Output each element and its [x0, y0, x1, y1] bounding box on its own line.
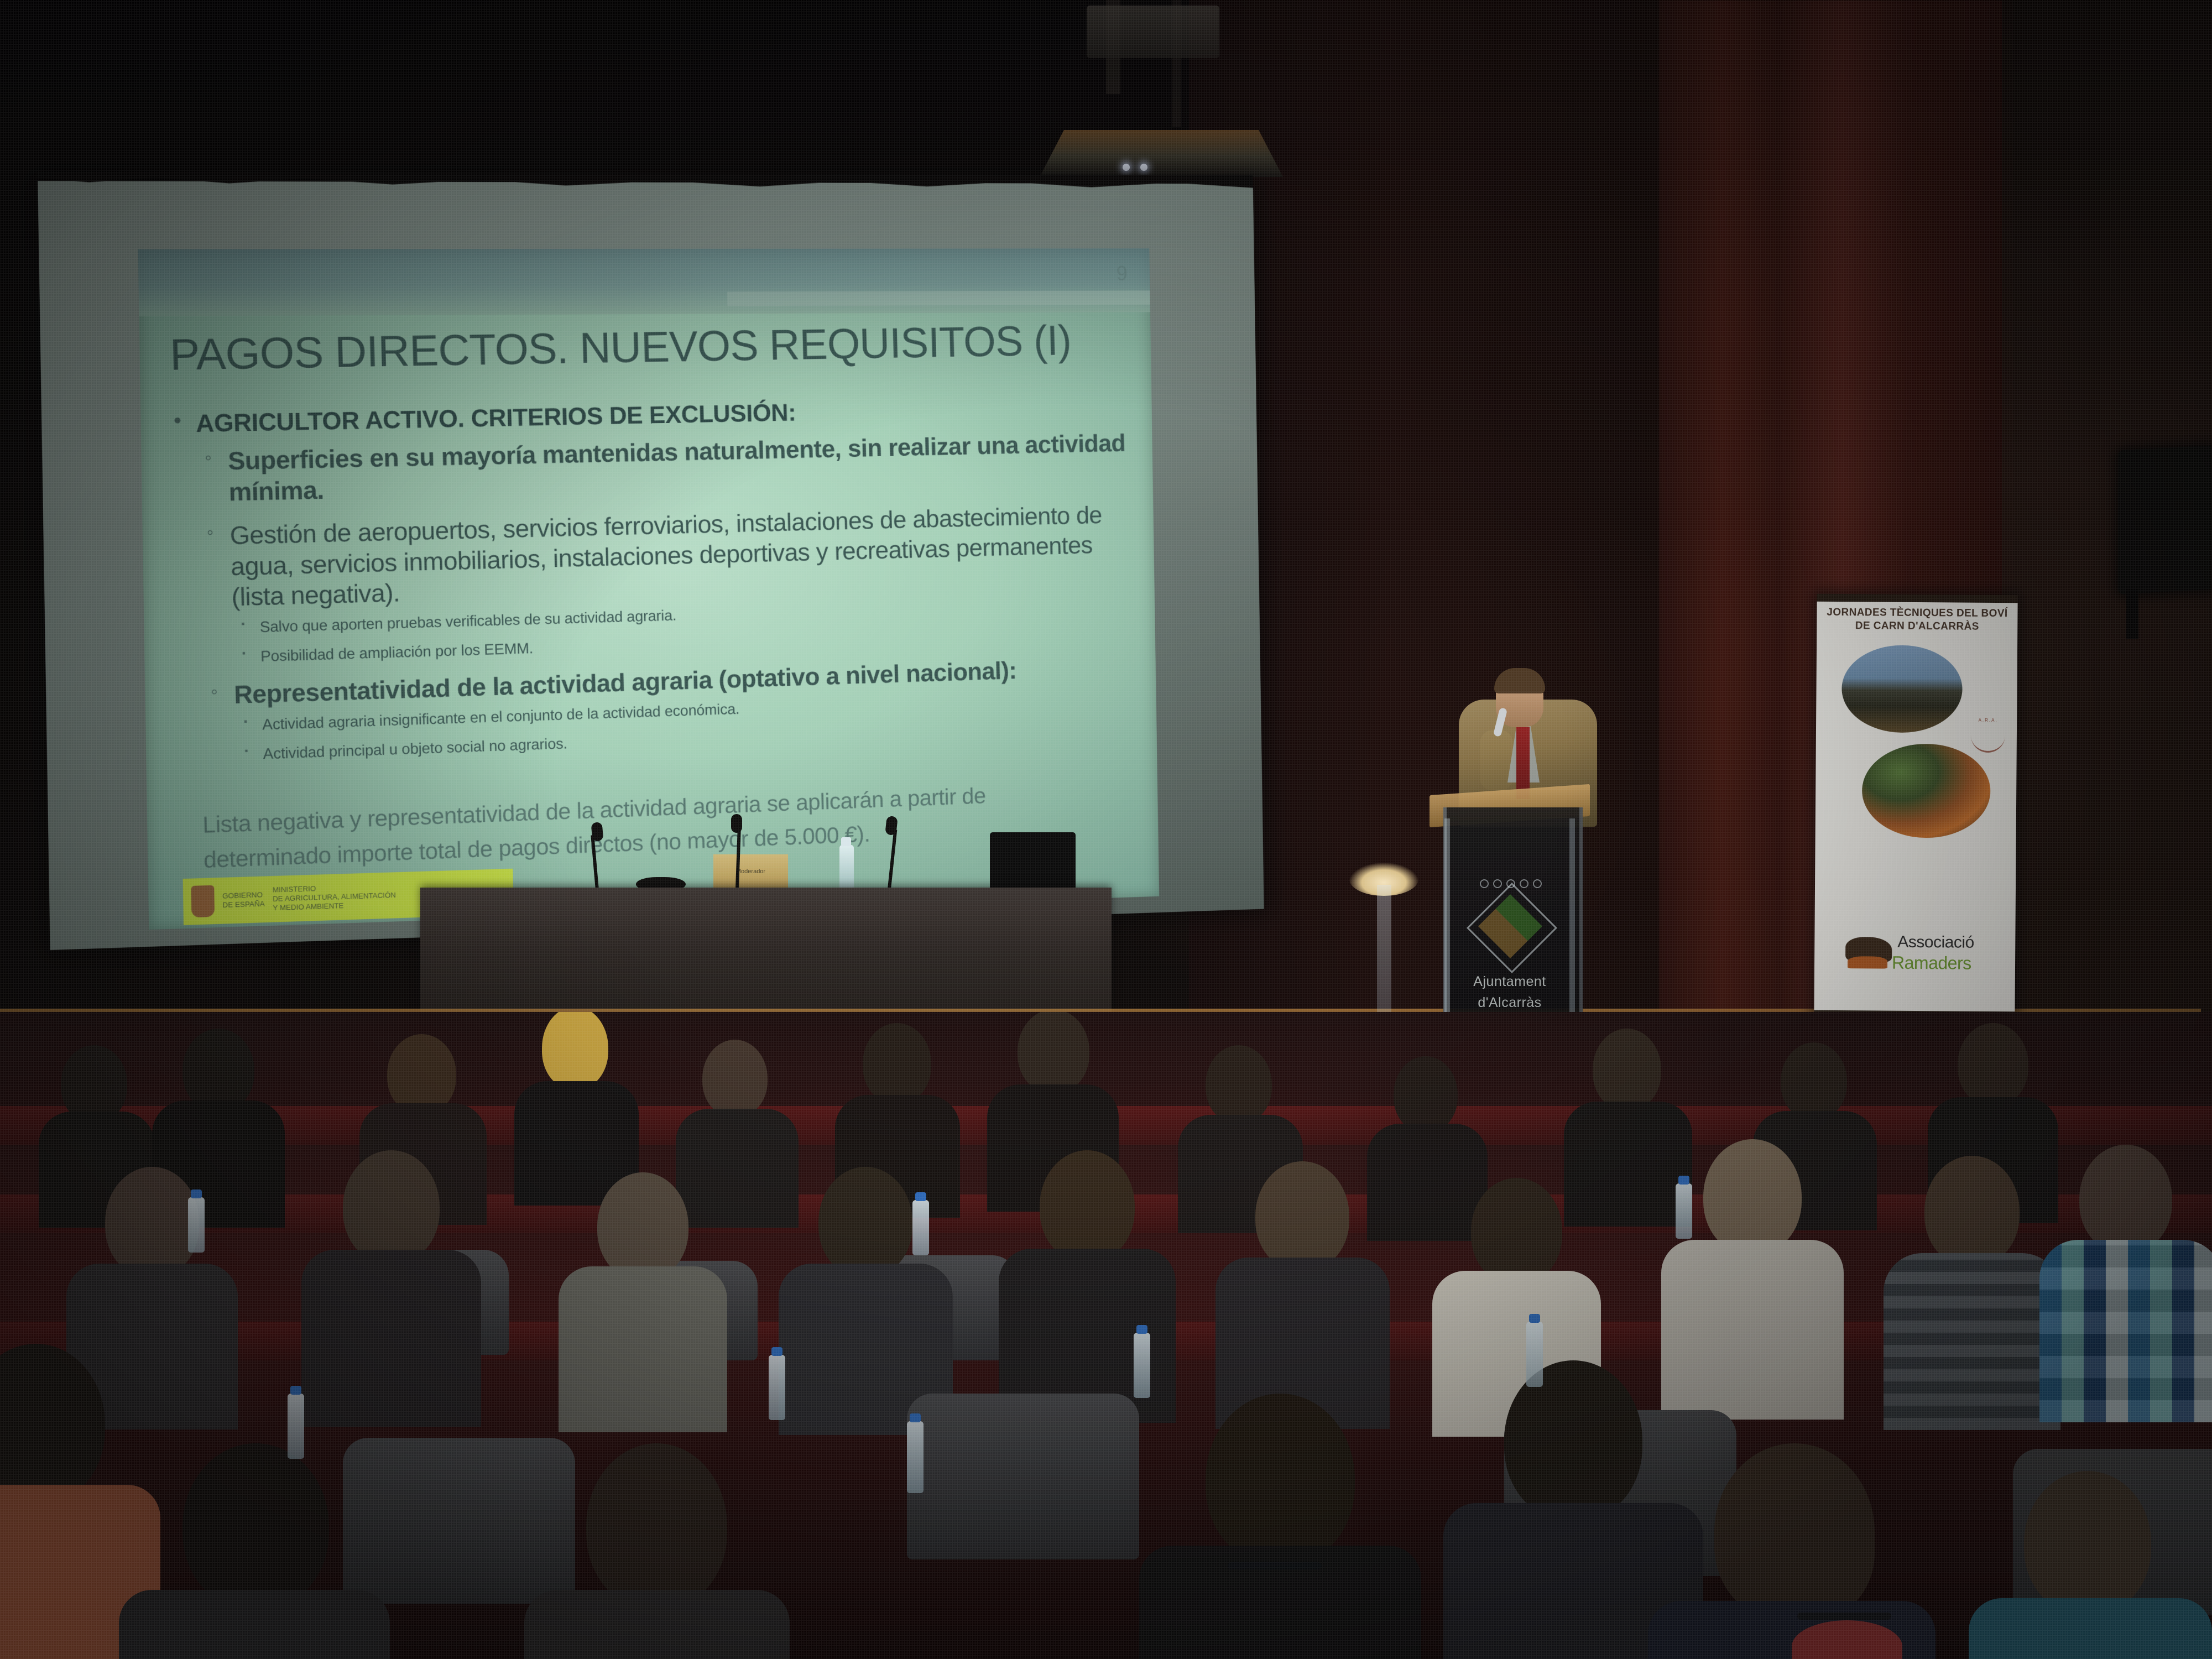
water-bottle-icon — [1526, 1322, 1543, 1387]
podium-label-line2: d'Alcarràs — [1443, 993, 1576, 1014]
water-bottle-icon — [907, 1421, 924, 1493]
ceiling-projector-icon — [1087, 6, 1219, 58]
projector-led-icon-2 — [1140, 164, 1147, 171]
bullet-level3-text: Salvo que aporten pruebas verificables d… — [259, 607, 676, 636]
audience-head — [1394, 1056, 1458, 1133]
microphone-head-icon — [591, 822, 604, 842]
audience-torso — [559, 1266, 727, 1432]
laptop-icon — [990, 832, 1076, 890]
table-nameplate: Moderador — [713, 854, 788, 889]
audience-head — [182, 1443, 329, 1609]
banner-photo-landscape — [1841, 645, 1963, 733]
bullet-level2: Gestión de aeropuertos, servicios ferrov… — [199, 499, 1134, 668]
conference-photo-scene: 9 PAGOS DIRECTOS. NUEVOS REQUISITOS (I) … — [0, 0, 2212, 1659]
slide-header-band — [138, 248, 1150, 316]
audience-head — [1471, 1178, 1562, 1284]
presentation-slide: 9 PAGOS DIRECTOS. NUEVOS REQUISITOS (I) … — [138, 248, 1159, 930]
ministry-logo-text: MINISTERIO DE AGRICULTURA, ALIMENTACIÓN … — [273, 881, 397, 913]
podium-label-line1: Ajuntament — [1443, 972, 1576, 993]
bullet-level2: Superficies en su mayoría mantenidas nat… — [196, 428, 1130, 508]
water-bottle-icon — [769, 1355, 785, 1420]
audience-head — [105, 1167, 199, 1277]
audience-torso — [301, 1250, 481, 1427]
audience-head-bald — [1703, 1139, 1802, 1254]
water-bottle-icon — [1134, 1333, 1150, 1398]
bullet-level1: AGRICULTOR ACTIVO. CRITERIOS DE EXCLUSIÓ… — [166, 393, 1136, 766]
audience-head — [1255, 1161, 1349, 1271]
audience-head — [387, 1034, 456, 1114]
wall-speaker-bracket — [2126, 589, 2138, 639]
rollup-banner: JORNADES TÈCNIQUES DEL BOVÍ DE CARN D'AL… — [1814, 594, 2017, 1024]
slide-header-accent — [727, 290, 1150, 306]
audience-head — [702, 1040, 768, 1117]
audience-torso — [524, 1590, 790, 1659]
audience-head — [2024, 1471, 2151, 1615]
bottle-cap-icon — [841, 837, 851, 846]
bullet-level2-text: Superficies en su mayoría mantenidas nat… — [228, 429, 1126, 507]
lanyard — [1228, 1562, 1322, 1569]
logo-dot-icon — [1533, 879, 1542, 888]
projector-housing-plate — [1040, 130, 1283, 177]
audience-torso — [119, 1590, 390, 1659]
audience-torso — [1564, 1102, 1692, 1227]
cow-logo-icon-2 — [1848, 956, 1887, 969]
slide-bullet-list: AGRICULTOR ACTIVO. CRITERIOS DE EXCLUSIÓ… — [166, 393, 1136, 779]
audience-torso-striped — [1884, 1253, 2060, 1430]
logo-dot-icon — [1480, 879, 1489, 888]
water-bottle-icon — [288, 1394, 304, 1459]
bullet-level3-text: Posibilidad de ampliación por los EEMM. — [260, 640, 534, 665]
audience-head — [863, 1023, 931, 1104]
audience-head — [2079, 1145, 2172, 1253]
banner-brand-line2: Ramaders — [1892, 953, 1971, 974]
audience-head — [182, 1029, 254, 1112]
audience-torso-teal — [1969, 1598, 2212, 1659]
logo-dot-icon — [1520, 879, 1528, 888]
water-bottle-icon — [912, 1200, 929, 1255]
slide-footnote: Lista negativa y representatividad de la… — [202, 775, 1104, 878]
banner-seal-icon — [1971, 723, 2005, 753]
bullet-level2: Representatividad de la actividad agrari… — [202, 652, 1136, 766]
audience-head — [1924, 1156, 2020, 1266]
audience-head — [597, 1172, 688, 1280]
bullet-level2-text: Gestión de aeropuertos, servicios ferrov… — [229, 500, 1102, 612]
banner-title-line1: JORNADES TÈCNIQUES DEL BOVÍ — [1822, 606, 2012, 621]
slide-number: 9 — [1116, 263, 1128, 286]
projector-led-icon — [1123, 164, 1130, 171]
water-bottle-icon — [839, 845, 854, 890]
water-bottle-icon — [188, 1197, 205, 1253]
audience-torso — [1367, 1124, 1488, 1241]
audience-head — [1781, 1042, 1847, 1120]
theatre-seat — [343, 1438, 575, 1604]
gov-line-2: DE ESPAÑA — [222, 899, 265, 910]
audience-head — [1593, 1029, 1661, 1110]
audience-head — [1206, 1394, 1355, 1565]
audience-torso — [676, 1109, 799, 1228]
banner-title-line2: DE CARN D'ALCARRÀS — [1822, 619, 2012, 634]
lanyard — [1797, 1613, 1891, 1620]
bullet-level3-text: Actividad principal u objeto social no a… — [263, 735, 567, 762]
banner-seal-text: A.R.A. — [1971, 718, 2005, 723]
audience-torso-plaid — [2039, 1240, 2212, 1422]
slide-title: PAGOS DIRECTOS. NUEVOS REQUISITOS (I) — [169, 315, 1110, 380]
audience-head — [1040, 1150, 1135, 1262]
podium-label: Ajuntament d'Alcarràs — [1443, 972, 1576, 1013]
microphone-head-icon — [731, 814, 742, 833]
projection-screen: 9 PAGOS DIRECTOS. NUEVOS REQUISITOS (I) … — [38, 181, 1264, 950]
banner-brand-line1: Associació — [1897, 933, 1974, 952]
audience-head — [586, 1443, 727, 1609]
banner-title: JORNADES TÈCNIQUES DEL BOVÍ DE CARN D'AL… — [1822, 606, 2012, 634]
wall-speaker-icon — [2118, 445, 2212, 594]
theatre-seat — [907, 1394, 1139, 1559]
audience-head — [818, 1167, 912, 1277]
spain-crest-icon — [191, 885, 215, 918]
water-bottle-icon — [1676, 1183, 1692, 1239]
banner-top-rail — [1817, 594, 2018, 603]
audience-head — [1206, 1045, 1272, 1124]
audience-head — [1958, 1023, 2028, 1106]
audience-torso-light — [1661, 1240, 1844, 1420]
audience-area — [0, 1012, 2212, 1659]
audience-head — [343, 1150, 440, 1264]
logo-dot-icon — [1493, 879, 1502, 888]
audience-head-blonde — [542, 1012, 608, 1089]
banner-photo-cattle — [1862, 743, 1991, 838]
government-logo-text: GOBIERNO DE ESPAÑA — [222, 890, 265, 910]
audience-head-profile — [1714, 1443, 1875, 1620]
audience-head — [1018, 1012, 1089, 1093]
audience-head — [1504, 1360, 1642, 1521]
bullet-level1-text: AGRICULTOR ACTIVO. CRITERIOS DE EXCLUSIÓ… — [196, 399, 796, 438]
audience-head — [61, 1045, 127, 1123]
